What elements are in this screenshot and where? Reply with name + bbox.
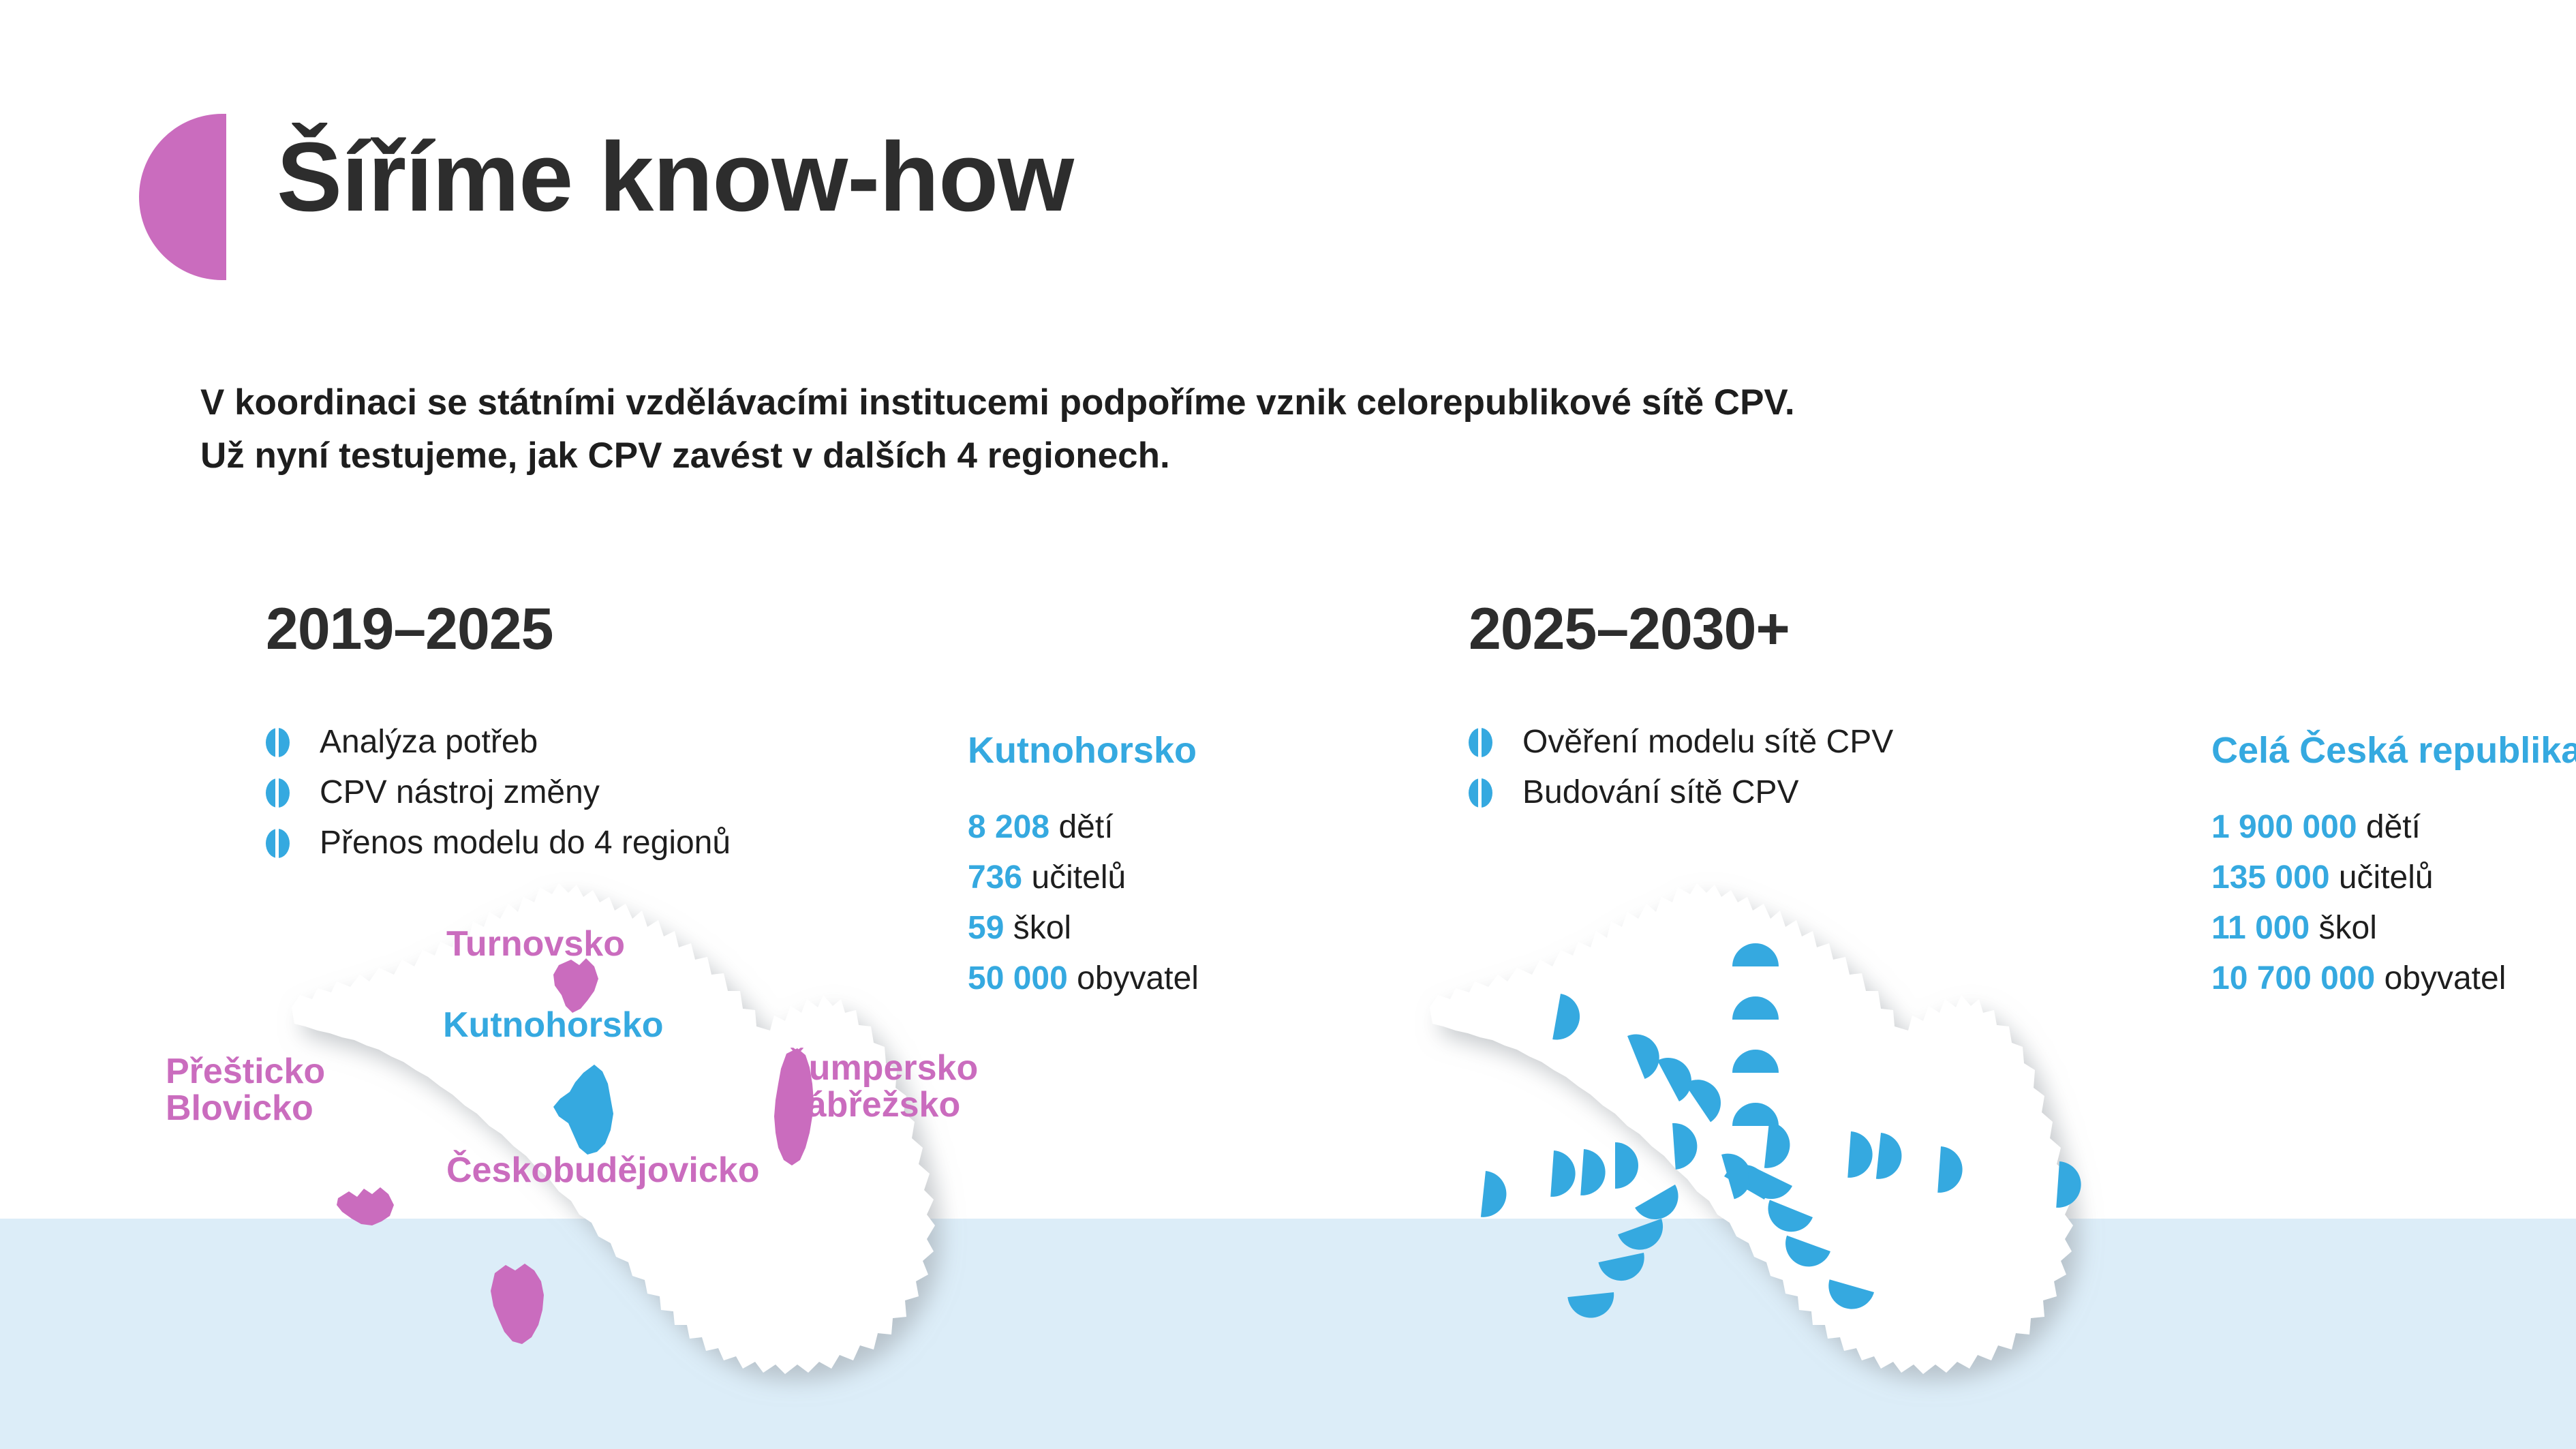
half-circle-marker (1618, 1219, 1670, 1256)
list-item-label: CPV nástroj změny (320, 776, 600, 809)
map-label-line-2: Zábřežsko (785, 1086, 978, 1123)
half-circle-marker (1550, 1150, 1577, 1198)
list-item: Analýza potřeb (266, 717, 731, 767)
stat-row: 8 208 dětí (968, 811, 1199, 844)
stat-row: 1 900 000 dětí (2211, 811, 2576, 844)
phase-column-2025-2030: 2025–2030+ Ověření modelu sítě CPV Budov… (1469, 600, 2573, 717)
half-circle-marker (1580, 1149, 1607, 1197)
half-circle-bullet-icon (266, 728, 290, 757)
stat-row: 10 700 000 obyvatel (2211, 962, 2576, 995)
stat-value: 135 000 (2211, 859, 2330, 896)
map-label-line-1: Šumpersko (785, 1050, 978, 1086)
stat-unit: obyvatel (2385, 960, 2506, 996)
region-ceskobudejovicko (491, 1264, 544, 1344)
list-item-label: Analýza potřeb (320, 726, 538, 759)
half-circle-marker (1567, 1292, 1616, 1320)
list-item-label: Budování sítě CPV (1522, 776, 1799, 809)
stat-value: 8 208 (968, 809, 1049, 845)
map-label-sumperskozabrezsko: Šumpersko Zábřežsko (785, 1050, 978, 1123)
page-title: Šíříme know-how (277, 128, 1073, 226)
intro-line-2: Už nyní testujeme, jak CPV zavést v dalš… (200, 429, 1795, 483)
stats-heading: Celá Česká republika (2211, 732, 2576, 769)
half-circle-bullet-icon (266, 829, 290, 858)
half-circle-marker (1481, 1171, 1509, 1219)
half-circle-bullet-icon (1469, 778, 1492, 808)
half-circle-marker (1598, 1253, 1649, 1285)
list-item: Budování sítě CPV (1469, 767, 1893, 818)
list-item: Ověření modelu sítě CPV (1469, 717, 1893, 767)
map-label-line-2: Blovicko (166, 1090, 325, 1127)
list-item-label: Přenos modelu do 4 regionů (320, 827, 731, 859)
stat-unit: učitelů (1031, 859, 1126, 896)
map-label-prestickoblovicko: Přešticko Blovicko (166, 1053, 325, 1127)
stat-row: 11 000 škol (2211, 912, 2576, 945)
czech-republic-map-network-coverage (1336, 879, 2174, 1418)
stat-value: 10 700 000 (2211, 960, 2375, 996)
half-circle-bullet-icon (1469, 728, 1492, 757)
half-circle-marker (2056, 1161, 2083, 1209)
phase-title: 2019–2025 (266, 600, 1356, 658)
phase-title: 2025–2030+ (1469, 600, 2573, 658)
stat-row: 135 000 učitelů (2211, 861, 2576, 894)
map-label-line-1: Přešticko (166, 1053, 325, 1090)
infographic-slide: Šíříme know-how V koordinaci se státními… (0, 0, 2576, 1449)
intro-line-1: V koordinaci se státními vzdělávacími in… (200, 376, 1795, 429)
list-item-label: Ověření modelu sítě CPV (1522, 726, 1893, 759)
half-circle-bullet-icon (266, 778, 290, 808)
map-label-kutnohorsko: Kutnohorsko (443, 1007, 664, 1043)
stat-value: 11 000 (2211, 910, 2310, 946)
map-label-ceskobudejovicko: Českobudějovicko (446, 1152, 759, 1189)
half-circle-marker (1615, 1142, 1638, 1189)
phase-column-2019-2025: 2019–2025 Analýza potřeb CPV nástroj změ… (266, 600, 1356, 717)
stat-unit: škol (2319, 910, 2377, 946)
list-item: CPV nástroj změny (266, 767, 731, 818)
map-label-turnovsko: Turnovsko (446, 926, 625, 962)
bullet-list: Analýza potřeb CPV nástroj změny Přenos … (266, 717, 731, 868)
stats-heading: Kutnohorsko (968, 732, 1199, 769)
stat-unit: obyvatel (1077, 960, 1199, 996)
half-circle-logo-icon (139, 114, 226, 280)
list-item: Přenos modelu do 4 regionů (266, 818, 731, 868)
stat-unit: dětí (2366, 809, 2421, 845)
stat-unit: dětí (1058, 809, 1113, 845)
stat-value: 1 900 000 (2211, 809, 2357, 845)
region-prestickoblovicko (337, 1187, 394, 1225)
intro-paragraph: V koordinaci se státními vzdělávacími in… (200, 376, 1795, 483)
stat-unit: učitelů (2339, 859, 2434, 896)
bullet-list: Ověření modelu sítě CPV Budování sítě CP… (1469, 717, 1893, 818)
stats-block: Celá Česká republika 1 900 000 dětí 135 … (2211, 732, 2576, 1013)
